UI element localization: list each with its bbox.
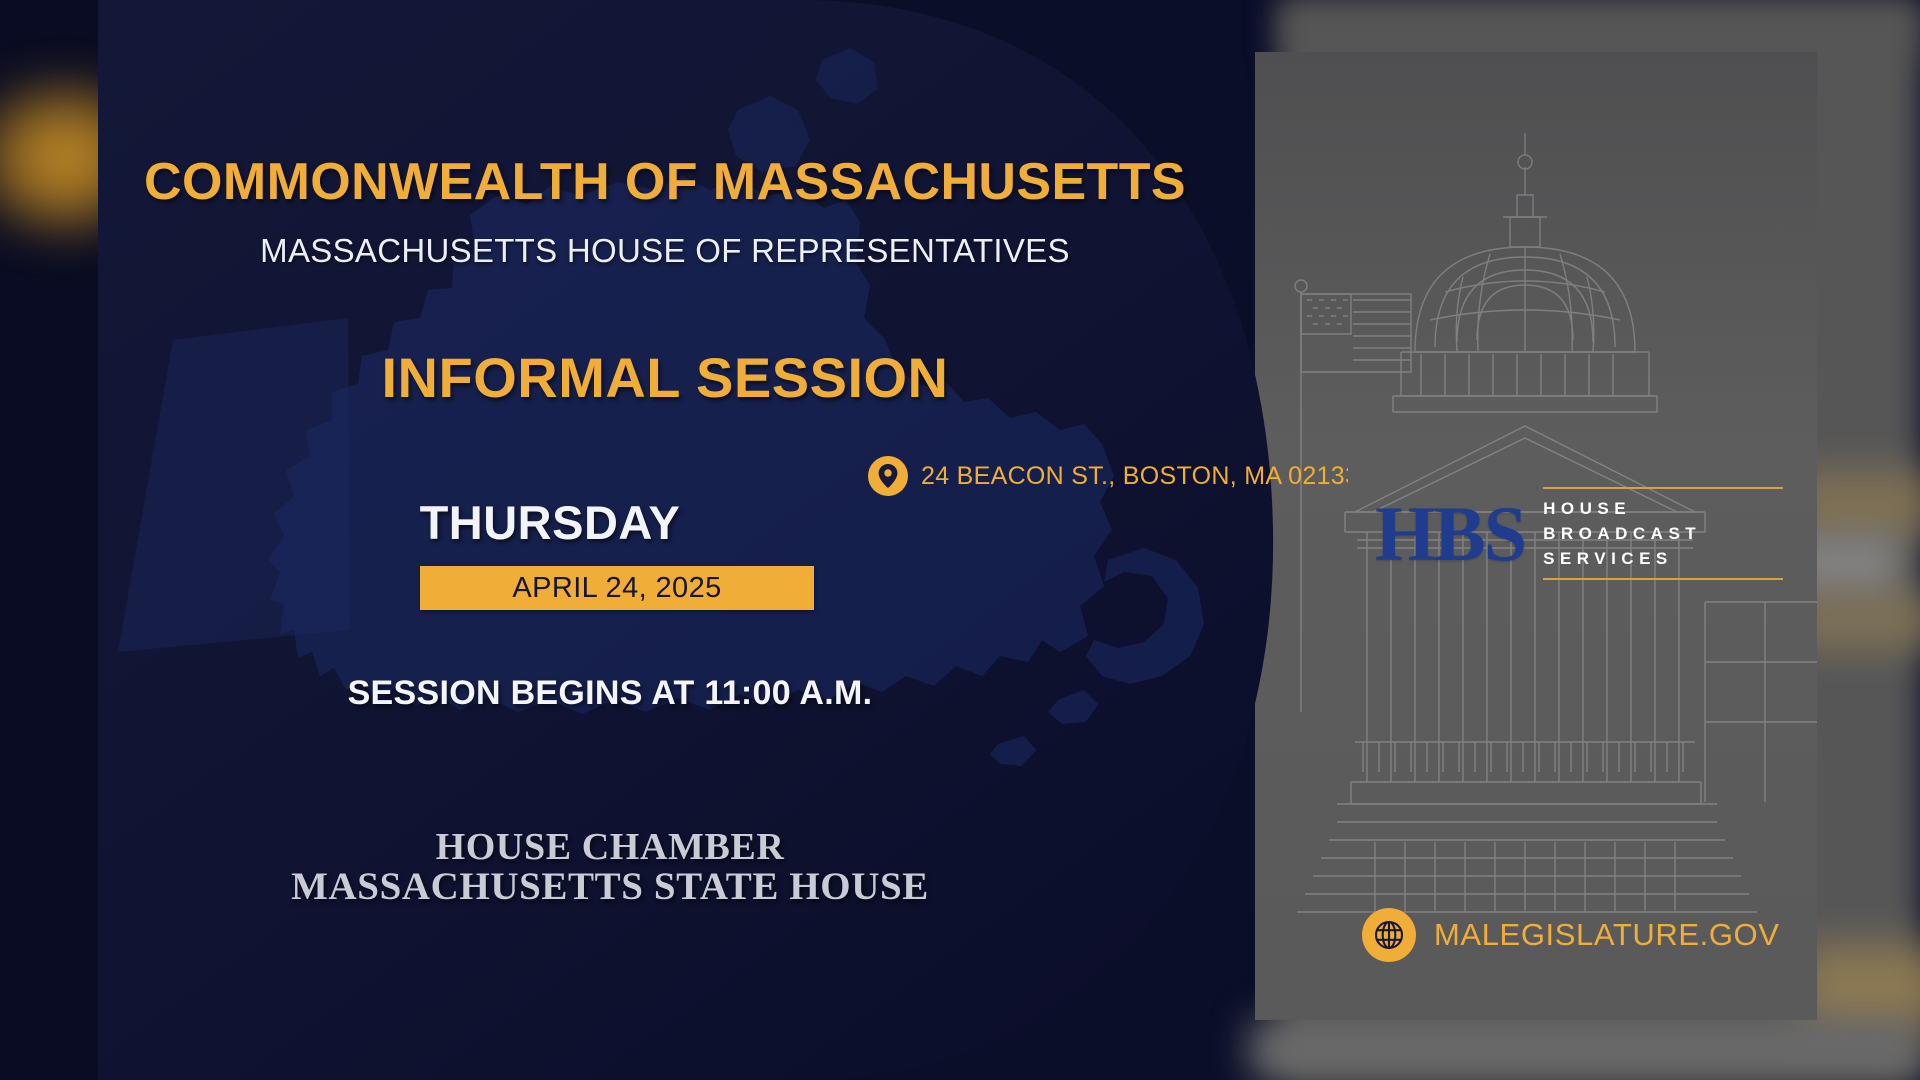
hbs-wordmark: HOUSE BROADCAST SERVICES [1543, 487, 1783, 580]
globe-glyph [1372, 918, 1406, 952]
session-date-badge: APRIL 24, 2025 [420, 566, 814, 610]
session-start-time: SESSION BEGINS AT 11:00 A.M. [110, 674, 1110, 713]
website-row: MALEGISLATURE.GOV [1362, 908, 1780, 962]
venue-block: HOUSE CHAMBER MASSACHUSETTS STATE HOUSE [110, 828, 1110, 907]
map-pin-glyph [877, 463, 899, 489]
venue-line-1: HOUSE CHAMBER [110, 828, 1110, 867]
backdrop-bottom-gray [1250, 1020, 1920, 1080]
main-navy-card: COMMONWEALTH OF MASSACHUSETTS MASSACHUSE… [98, 0, 1348, 1080]
globe-icon [1362, 908, 1416, 962]
page-title: COMMONWEALTH OF MASSACHUSETTS [110, 152, 1220, 212]
location-row: 24 BEACON ST., BOSTON, MA 02133 [868, 456, 1348, 496]
session-weekday: THURSDAY [110, 495, 990, 550]
hbs-monogram: HBS [1375, 495, 1525, 573]
map-pin-icon [868, 456, 908, 496]
venue-line-2: MASSACHUSETTS STATE HOUSE [110, 867, 1110, 907]
hbs-word-broadcast: BROADCAST [1543, 521, 1783, 546]
website-url: MALEGISLATURE.GOV [1434, 917, 1780, 953]
hbs-word-services: SERVICES [1543, 546, 1783, 571]
hbs-word-house: HOUSE [1543, 496, 1783, 521]
location-address: 24 BEACON ST., BOSTON, MA 02133 [921, 462, 1348, 491]
hbs-logo: HBS HOUSE BROADCAST SERVICES [1375, 487, 1783, 580]
session-type-heading: INFORMAL SESSION [110, 345, 1220, 410]
slide-content: COMMONWEALTH OF MASSACHUSETTS MASSACHUSE… [98, 0, 1348, 1080]
page-subtitle: MASSACHUSETTS HOUSE OF REPRESENTATIVES [110, 232, 1220, 270]
